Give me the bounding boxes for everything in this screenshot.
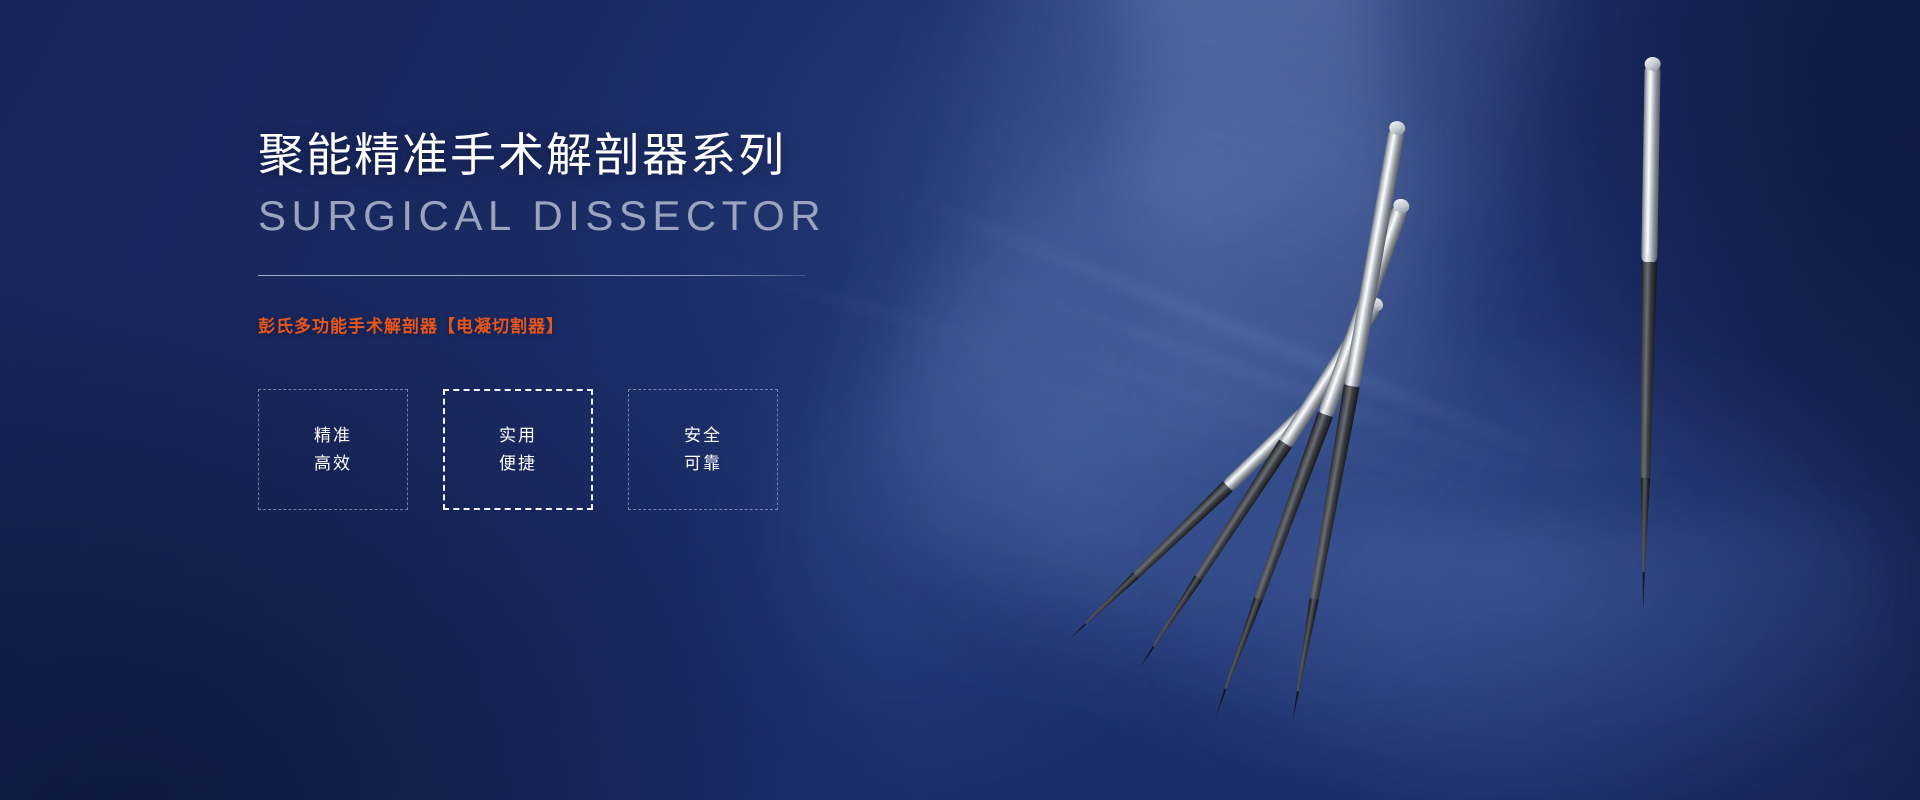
instrument-5 — [1635, 57, 1661, 610]
feature-badge-3[interactable]: 安全 可靠 — [628, 389, 778, 510]
blurred-forceps-streak — [868, 177, 1632, 493]
instrument-4 — [1285, 120, 1407, 723]
banner-text-block: 聚能精准手术解剖器系列 SURGICAL DISSECTOR 彭氏多功能手术解剖… — [258, 128, 958, 510]
feature-badge-2[interactable]: 实用 便捷 — [443, 389, 593, 510]
blurred-arm-shape — [975, 272, 1885, 800]
divider — [258, 275, 806, 276]
page-subtitle-english: SURGICAL DISSECTOR — [258, 192, 958, 240]
blurred-forearm-shape — [1278, 351, 1920, 800]
blurred-forceps-streak — [923, 301, 1586, 534]
feature-badge-1[interactable]: 精准 高效 — [258, 389, 408, 510]
instrument-2 — [1133, 295, 1385, 673]
instrument-1 — [1065, 401, 1316, 644]
instrument-3 — [1208, 197, 1411, 720]
feature-badge-group: 精准 高效 实用 便捷 安全 可靠 — [258, 389, 958, 510]
feature-badge-1-line2: 高效 — [314, 455, 352, 472]
feature-badge-2-line1: 实用 — [499, 427, 537, 444]
floor-glow — [1180, 520, 1920, 800]
blurred-forceps-streak — [892, 240, 1609, 507]
feature-badge-2-line2: 便捷 — [499, 455, 537, 472]
feature-badge-3-line1: 安全 — [684, 427, 722, 444]
feature-badge-1-line1: 精准 — [314, 427, 352, 444]
product-name-label: 彭氏多功能手术解剖器【电凝切割器】 — [258, 312, 958, 337]
page-title: 聚能精准手术解剖器系列 — [258, 128, 958, 182]
light-beam-secondary — [1111, 0, 1449, 652]
feature-badge-3-line2: 可靠 — [684, 455, 722, 472]
product-banner: 聚能精准手术解剖器系列 SURGICAL DISSECTOR 彭氏多功能手术解剖… — [0, 0, 1920, 800]
